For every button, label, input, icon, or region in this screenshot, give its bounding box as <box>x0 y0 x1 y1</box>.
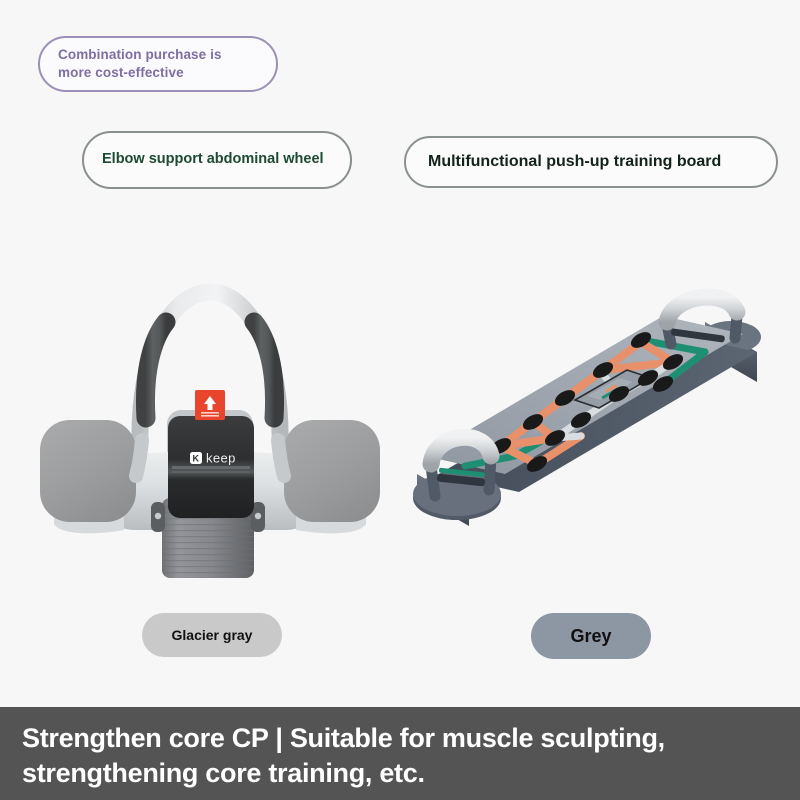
caption-line-2: strengthening core training, etc. <box>22 756 778 791</box>
elbow-pad-left <box>40 420 136 522</box>
color-chip-glacier-gray[interactable]: Glacier gray <box>142 613 282 657</box>
front-panel <box>168 416 254 518</box>
caption-line-1: Strengthen core CP | Suitable for muscle… <box>22 721 778 756</box>
svg-text:keep: keep <box>206 451 236 466</box>
handle-grip-left <box>145 322 166 418</box>
caption-bar: Strengthen core CP | Suitable for muscle… <box>0 707 800 800</box>
this-side-up-arrow-icon <box>195 390 225 420</box>
product-comparison-image: Combination purchase is more cost-effect… <box>0 0 800 800</box>
color-chip-grey[interactable]: Grey <box>531 613 651 659</box>
product-title-label: Multifunctional push-up training board <box>428 153 721 171</box>
svg-text:K: K <box>193 454 200 464</box>
product-image-pushup-board <box>405 260 795 550</box>
product-title-ab-wheel: Elbow support abdominal wheel <box>82 131 352 189</box>
product-title-pushup-board: Multifunctional push-up training board <box>404 136 778 188</box>
keep-logo-icon: K keep <box>190 451 236 466</box>
upright-left <box>136 440 142 476</box>
product-title-label: Elbow support abdominal wheel <box>102 150 324 170</box>
promo-badge-label: Combination purchase is more cost-effect… <box>58 46 258 82</box>
product-image-ab-wheel: K keep <box>20 230 400 590</box>
upright-right <box>278 440 284 476</box>
elbow-pad-right <box>284 420 380 522</box>
promo-badge: Combination purchase is more cost-effect… <box>38 36 278 92</box>
color-chip-label: Grey <box>570 626 611 647</box>
handle-grip-right <box>254 322 275 418</box>
color-chip-label: Glacier gray <box>172 627 253 643</box>
